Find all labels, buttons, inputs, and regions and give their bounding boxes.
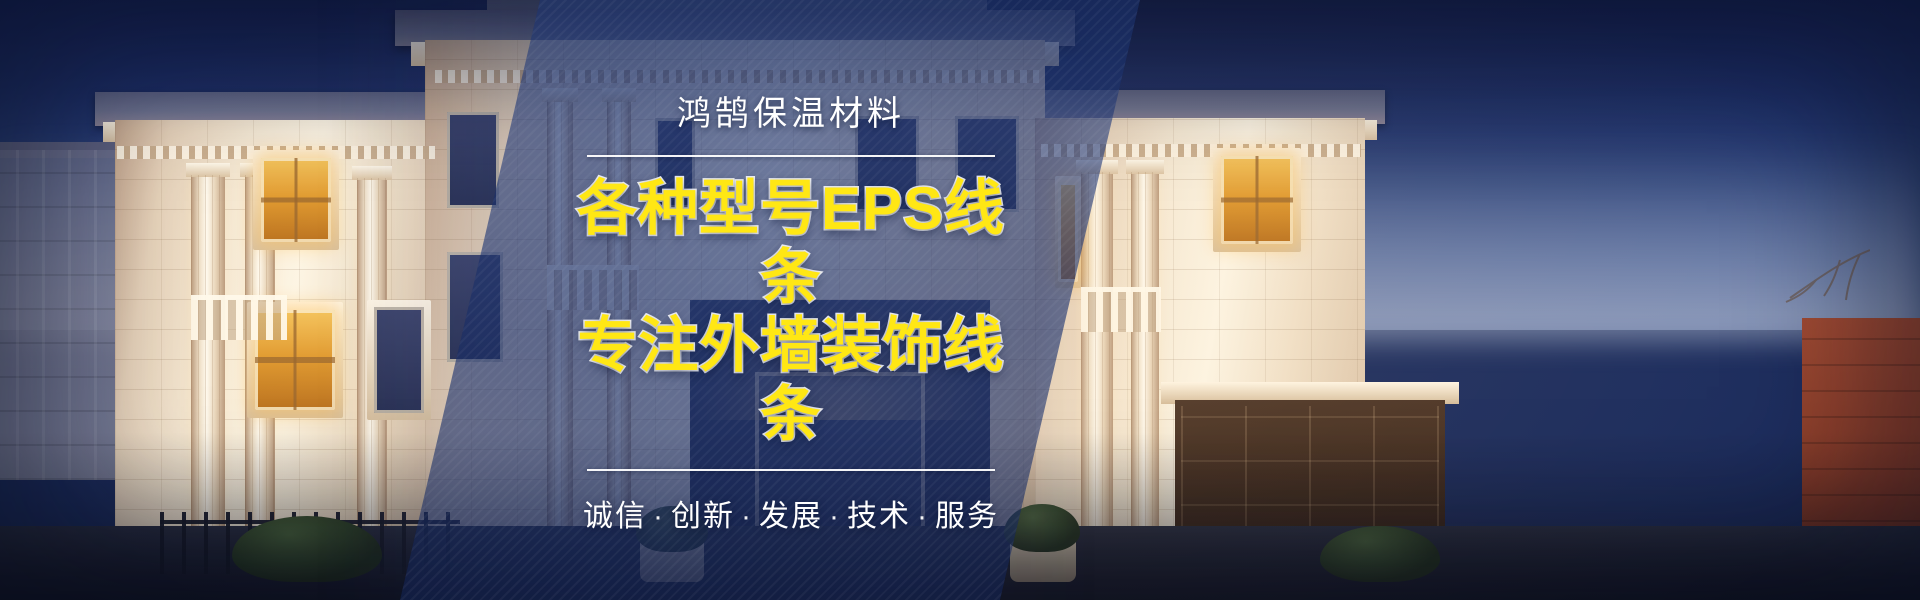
tagline-separator-3: · xyxy=(823,500,847,533)
tagline-item-1: 诚信 xyxy=(583,500,647,533)
tagline-separator-1: · xyxy=(647,500,671,533)
tagline-item-3: 发展 xyxy=(759,500,823,533)
tagline: 诚信·创新·发展·技术·服务 xyxy=(556,491,1026,535)
promotional-banner: 鸿鹄保温材料 各种型号EPS线条 专注外墙装饰线条 诚信·创新·发展·技术·服务 xyxy=(0,0,1920,600)
banner-text-block: 鸿鹄保温材料 各种型号EPS线条 专注外墙装饰线条 诚信·创新·发展·技术·服务 xyxy=(556,96,1026,535)
divider-bottom xyxy=(587,469,995,471)
headline: 各种型号EPS线条 专注外墙装饰线条 xyxy=(556,175,1026,449)
headline-line-1: 各种型号EPS线条 xyxy=(556,175,1026,312)
headline-line-2: 专注外墙装饰线条 xyxy=(556,312,1026,449)
tagline-item-2: 创新 xyxy=(671,500,735,533)
divider-top xyxy=(587,155,995,157)
tagline-item-5: 服务 xyxy=(935,500,999,533)
tagline-separator-2: · xyxy=(735,500,759,533)
tagline-item-4: 技术 xyxy=(847,500,911,533)
company-name: 鸿鹄保温材料 xyxy=(556,96,1026,133)
tagline-separator-4: · xyxy=(911,500,935,533)
